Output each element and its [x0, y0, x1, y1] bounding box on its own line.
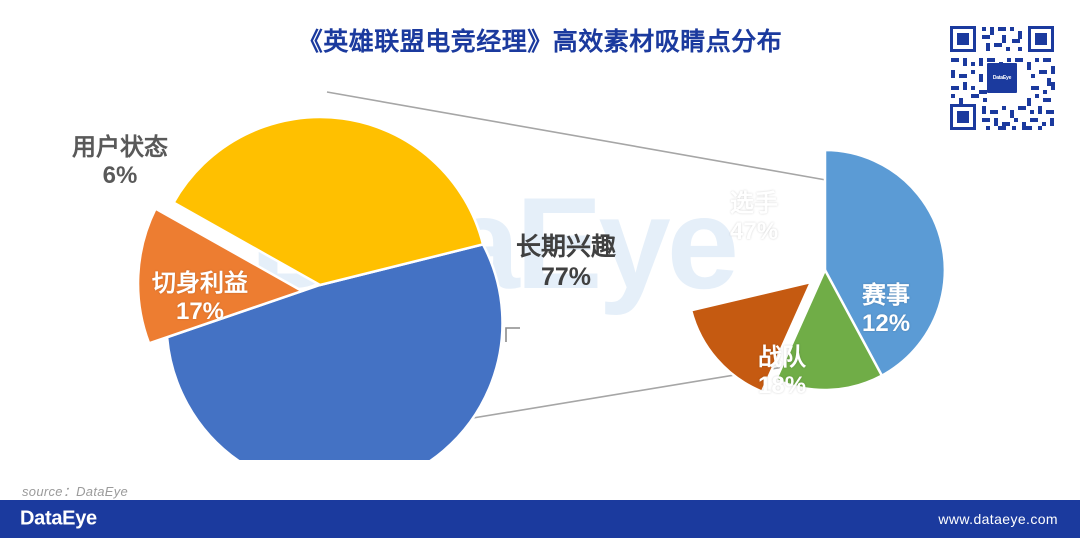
primary-pie-slices: [138, 117, 502, 460]
source-note: source：DataEye: [22, 481, 128, 500]
footer-website-url[interactable]: www.dataeye.com: [938, 511, 1058, 527]
pie-chart-group: [0, 60, 1080, 460]
breakout-pie-slices: [691, 150, 945, 392]
chart-canvas: 《英雄联盟电竞经理》高效素材吸睛点分布: [0, 0, 1080, 538]
longterm-label-leader: [506, 328, 520, 342]
dataeye-logo: DataEye: [20, 508, 97, 531]
page-title: 《英雄联盟电竞经理》高效素材吸睛点分布: [0, 22, 1080, 58]
footer-bar: DataEye www.dataeye.com: [0, 500, 1080, 538]
